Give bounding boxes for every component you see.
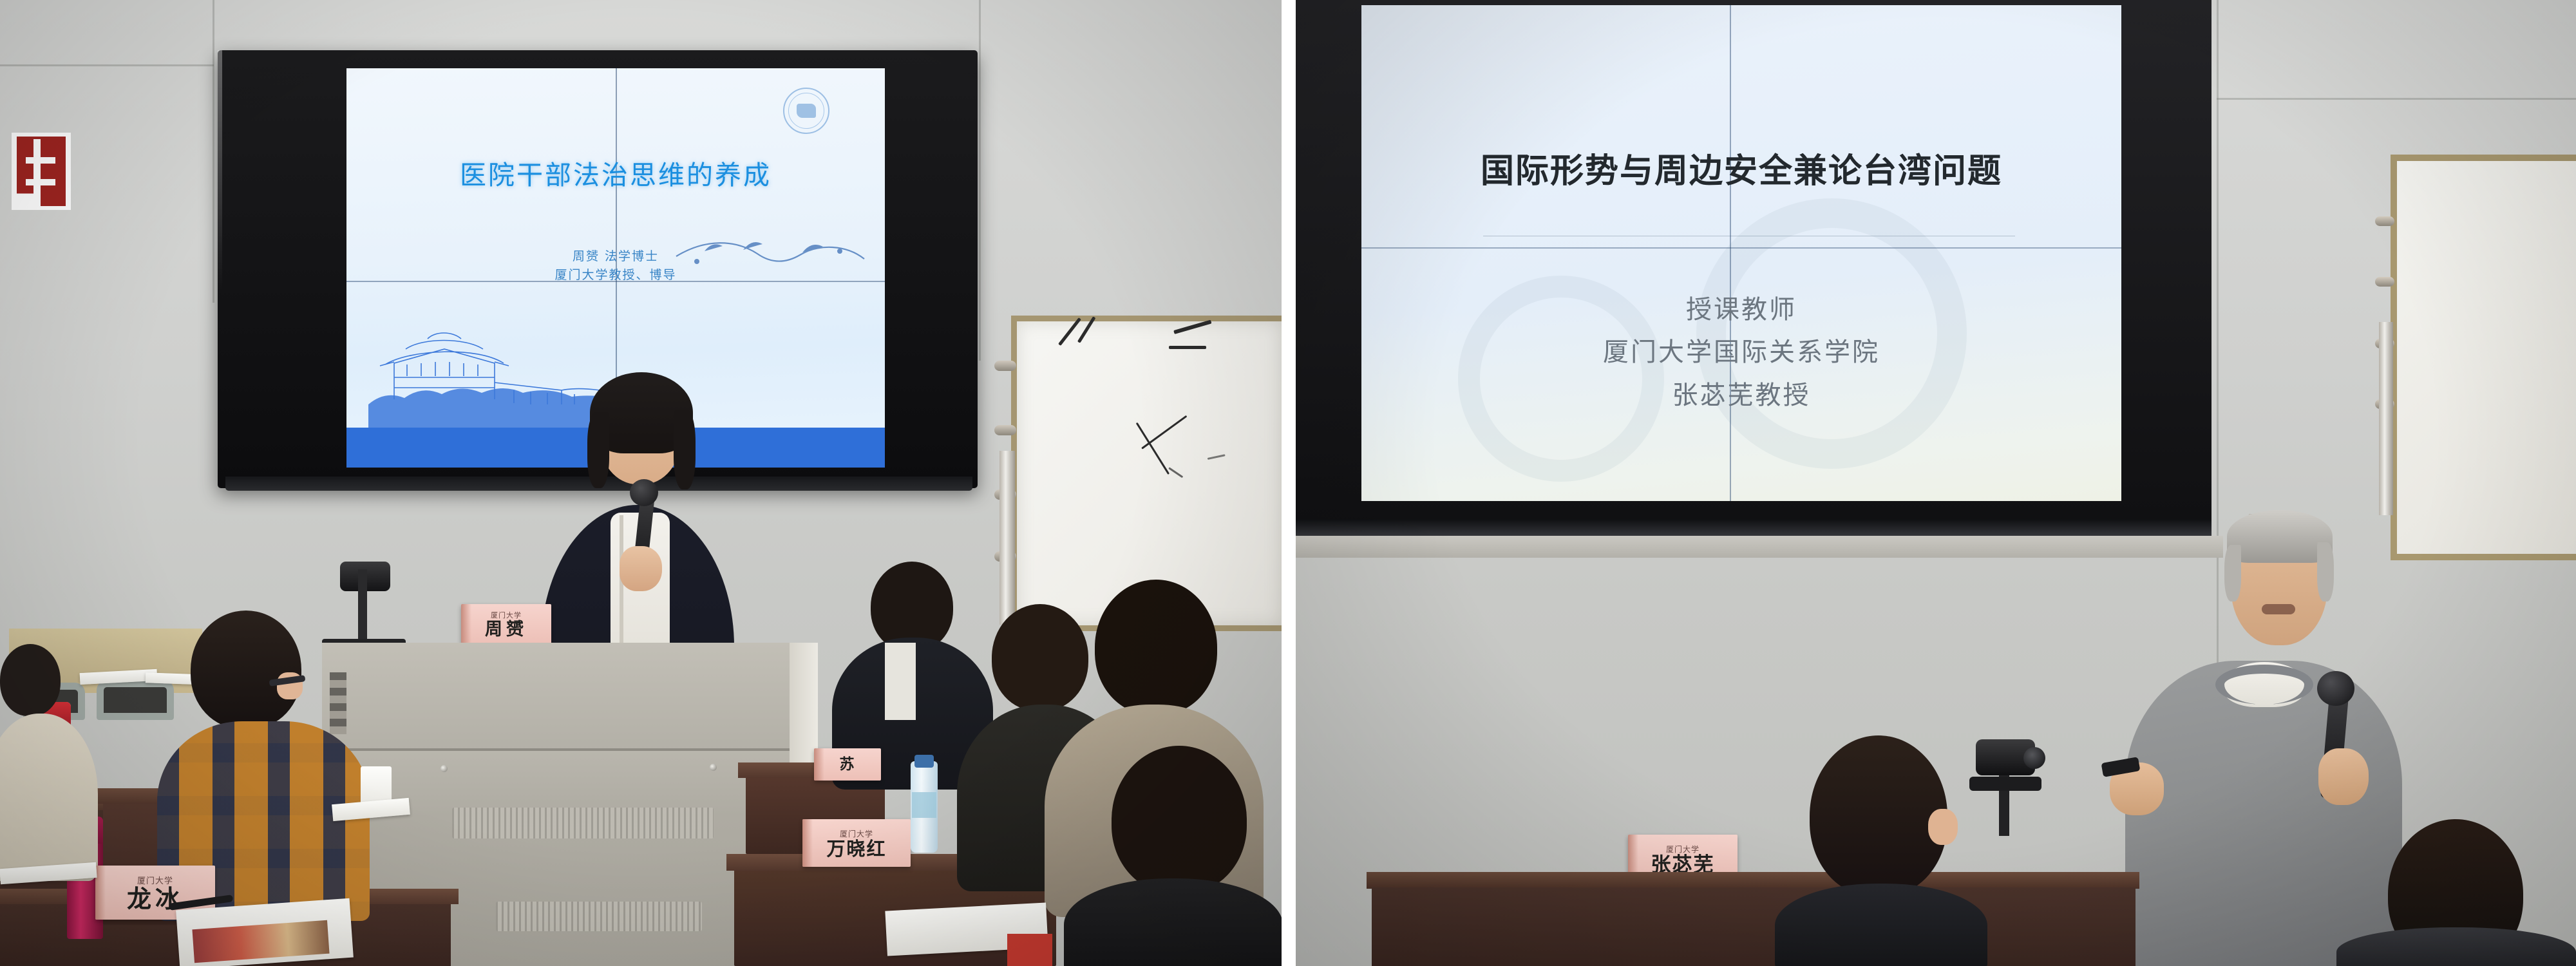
nameplate: 厦门大学 万晓红: [802, 819, 911, 867]
nameplate-name: 万晓红: [826, 840, 886, 858]
audience-collar: [885, 643, 916, 720]
speaker-hair-left: [587, 412, 609, 488]
whiteboard-mark: [1168, 467, 1183, 478]
nameplate-university: 厦门大学: [137, 874, 173, 886]
wall-sign-glyph: [17, 137, 66, 206]
wall-seam: [213, 0, 214, 303]
wall-rail: [999, 451, 1015, 625]
back-chair: [97, 680, 174, 720]
nameplate: 苏: [814, 748, 881, 781]
wall-sign-stroke: [26, 157, 55, 164]
nameplate-fold: [814, 748, 824, 781]
wall-ledge: [1296, 536, 2223, 558]
presentation-slide-right: 国际形势与周边安全兼论台湾问题 授课教师 厦门大学国际关系学院 张苾芜教授: [1361, 5, 2121, 501]
nameplate-fold: [95, 866, 106, 920]
left-photo: 医院干部法治思维的养成 周赟 法学博士 厦门大学教授、博导: [0, 0, 1282, 966]
whiteboard-right: [2391, 155, 2576, 560]
red-folder: [1007, 934, 1052, 966]
audience-head: [1810, 735, 1947, 896]
audience-body: [0, 714, 98, 881]
microphone-head-icon: [630, 479, 658, 506]
wall-rail: [2379, 322, 2393, 515]
lectern-screw: [440, 765, 448, 772]
nameplate-name: 周赟: [485, 621, 527, 638]
display-stand-right: [1296, 519, 2211, 536]
wall-sign-stroke: [26, 179, 55, 185]
wall-sign: [12, 133, 71, 210]
slide-body-right: 授课教师 厦门大学国际关系学院 张苾芜教授: [1361, 289, 2121, 417]
nameplate-fold: [802, 819, 813, 867]
sweater-neckline: [2215, 665, 2313, 705]
bottle-cap: [914, 755, 934, 768]
lectern-vent: [452, 808, 714, 838]
audience-body: [1775, 884, 1987, 966]
wall-seam: [2217, 0, 2219, 676]
lectern-panel: [330, 672, 346, 734]
lectern-top: [322, 643, 818, 751]
whiteboard-hinge: [994, 425, 1016, 435]
audience-head: [992, 604, 1088, 711]
audience-head: [1095, 580, 1217, 715]
whiteboard-mark: [1173, 320, 1211, 334]
audience-body: [1064, 878, 1282, 966]
screen-seam-vertical: [1730, 5, 1731, 501]
panel-divider: [1282, 0, 1296, 966]
wall-seam: [979, 0, 981, 361]
desk: [1372, 887, 2136, 966]
nameplate-university: 厦门大学: [1666, 844, 1700, 855]
whiteboard-mark: [1169, 346, 1206, 349]
slide-body-line2: 厦门大学国际关系学院: [1361, 331, 2121, 374]
bottle-label: [912, 792, 936, 818]
slide-rule: [1483, 236, 2015, 236]
slide-body-line3: 张苾芜教授: [1361, 374, 2121, 417]
whiteboard-hinge: [2375, 216, 2394, 226]
camera-stand: [358, 569, 367, 645]
whiteboard-mark: [1207, 454, 1226, 460]
whiteboard-mark: [1141, 415, 1187, 450]
screen-seam-horizontal: [1361, 247, 2121, 249]
wall-seam: [0, 64, 214, 66]
speaker-hair-right: [2224, 545, 2241, 601]
nameplate-university: 厦门大学: [840, 828, 873, 839]
slide-body-line1: 授课教师: [1361, 289, 2121, 331]
audience-head: [0, 644, 61, 716]
camera-mount: [1969, 777, 2041, 791]
diptych-stage: 医院干部法治思维的养成 周赟 法学博士 厦门大学教授、博导: [0, 0, 2576, 966]
slide-title-left: 医院干部法治思维的养成: [346, 153, 885, 192]
speaker-hair-left: [674, 410, 696, 489]
wall-seam: [2217, 98, 2576, 100]
right-photo: 国际形势与周边安全兼论台湾问题 授课教师 厦门大学国际关系学院 张苾芜教授: [1296, 0, 2576, 966]
speaker-hair-right: [2317, 542, 2334, 601]
speaker-hand-right: [2318, 748, 2369, 805]
audience-head: [191, 611, 301, 729]
university-seal-icon: [783, 88, 829, 134]
lectern-vent: [496, 902, 702, 931]
whiteboard-hinge: [994, 361, 1016, 371]
audience-ear: [1928, 809, 1958, 845]
nameplate-fold: [461, 604, 471, 644]
audience-head: [1112, 746, 1247, 894]
display-screen-right: 国际形势与周边安全兼论台湾问题 授课教师 厦门大学国际关系学院 张苾芜教授: [1296, 0, 2211, 522]
nameplate: 厦门大学 周赟: [461, 604, 551, 644]
microphone-head-icon: [2317, 671, 2354, 706]
whiteboard-hinge: [2375, 277, 2394, 287]
camera-lens-icon: [2023, 747, 2045, 769]
desk-top: [1367, 872, 2139, 889]
nameplate-name: 苏: [840, 757, 856, 772]
speaker-hand-left: [620, 546, 662, 591]
vine-ornament-icon: [674, 237, 867, 277]
lectern-screw: [710, 764, 717, 771]
slide-title-right: 国际形势与周边安全兼论台湾问题: [1361, 144, 2121, 192]
nameplate-university: 厦门大学: [491, 610, 522, 620]
speaker-mouth: [2262, 604, 2295, 614]
wall-sign-stroke: [33, 139, 41, 206]
